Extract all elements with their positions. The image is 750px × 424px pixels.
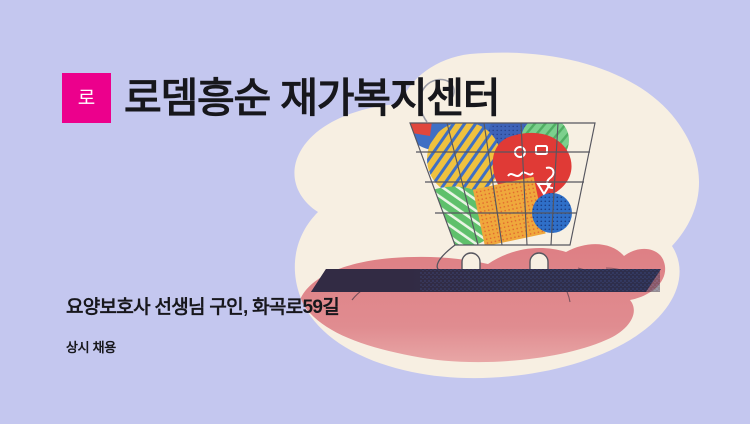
banner-tagline: 상시 채용: [66, 338, 116, 358]
item-yellow-striped-circle: [427, 122, 501, 196]
platform-tray: [311, 269, 661, 292]
brand-logo-badge-text: 로: [78, 89, 95, 108]
brand-logo-badge[interactable]: 로: [62, 73, 111, 123]
banner-title: 로뎀흥순 재가복지센터: [124, 70, 499, 126]
hand-holding-shopping-cart-illustration: [0, 0, 750, 424]
banner-subtitle: 요양보호사 선생님 구인, 화곡로59길: [66, 295, 339, 321]
recruitment-banner: 로 로뎀흥순 재가복지센터 요양보호사 선생님 구인, 화곡로59길 상시 채용: [0, 0, 750, 424]
